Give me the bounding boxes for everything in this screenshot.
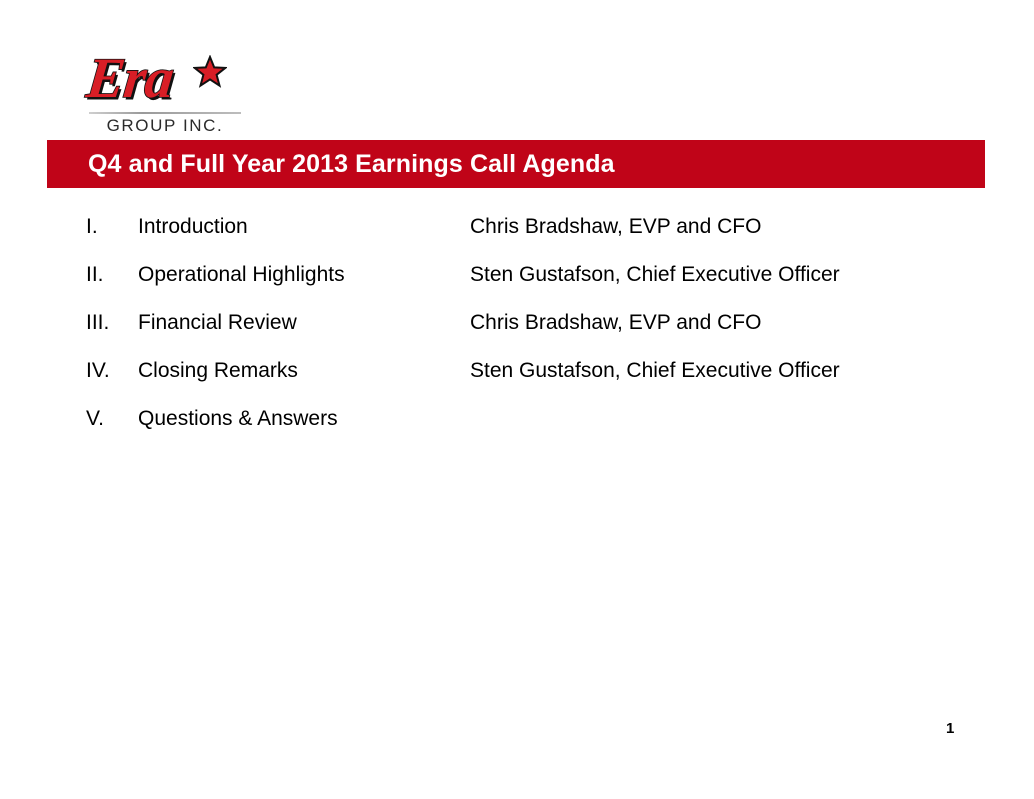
presentation-slide: Era GROUP INC. Q4 and Full Year 2013 Ear… [0, 0, 1034, 799]
agenda-item-topic: Questions & Answers [138, 402, 338, 436]
star-icon [193, 55, 227, 89]
agenda-item: III. Financial Review Chris Bradshaw, EV… [86, 306, 966, 354]
agenda-item-numeral: V. [86, 402, 132, 436]
logo-subtext: GROUP INC. [85, 116, 245, 136]
agenda-item-speaker: Chris Bradshaw, EVP and CFO [470, 306, 761, 340]
agenda-item-numeral: III. [86, 306, 132, 340]
page-title: Q4 and Full Year 2013 Earnings Call Agen… [88, 140, 615, 188]
agenda-item-speaker: Sten Gustafson, Chief Executive Officer [470, 354, 840, 388]
agenda-item-speaker: Chris Bradshaw, EVP and CFO [470, 210, 761, 244]
agenda-item: II. Operational Highlights Sten Gustafso… [86, 258, 966, 306]
logo-divider [89, 112, 241, 114]
agenda-item-topic: Financial Review [138, 306, 297, 340]
agenda-item-topic: Operational Highlights [138, 258, 345, 292]
agenda-item: I. Introduction Chris Bradshaw, EVP and … [86, 210, 966, 258]
agenda-list: I. Introduction Chris Bradshaw, EVP and … [86, 210, 966, 450]
logo-wordmark: Era [85, 52, 245, 110]
agenda-item-numeral: II. [86, 258, 132, 292]
company-logo: Era GROUP INC. [85, 52, 245, 132]
agenda-item: IV. Closing Remarks Sten Gustafson, Chie… [86, 354, 966, 402]
slide-title-bar: Q4 and Full Year 2013 Earnings Call Agen… [47, 140, 985, 188]
logo-era-text: Era [84, 50, 176, 108]
page-number: 1 [946, 720, 954, 737]
agenda-item-topic: Introduction [138, 210, 248, 244]
agenda-item-numeral: I. [86, 210, 132, 244]
agenda-item-speaker: Sten Gustafson, Chief Executive Officer [470, 258, 840, 292]
agenda-item-topic: Closing Remarks [138, 354, 298, 388]
agenda-item: V. Questions & Answers [86, 402, 966, 450]
agenda-item-numeral: IV. [86, 354, 132, 388]
